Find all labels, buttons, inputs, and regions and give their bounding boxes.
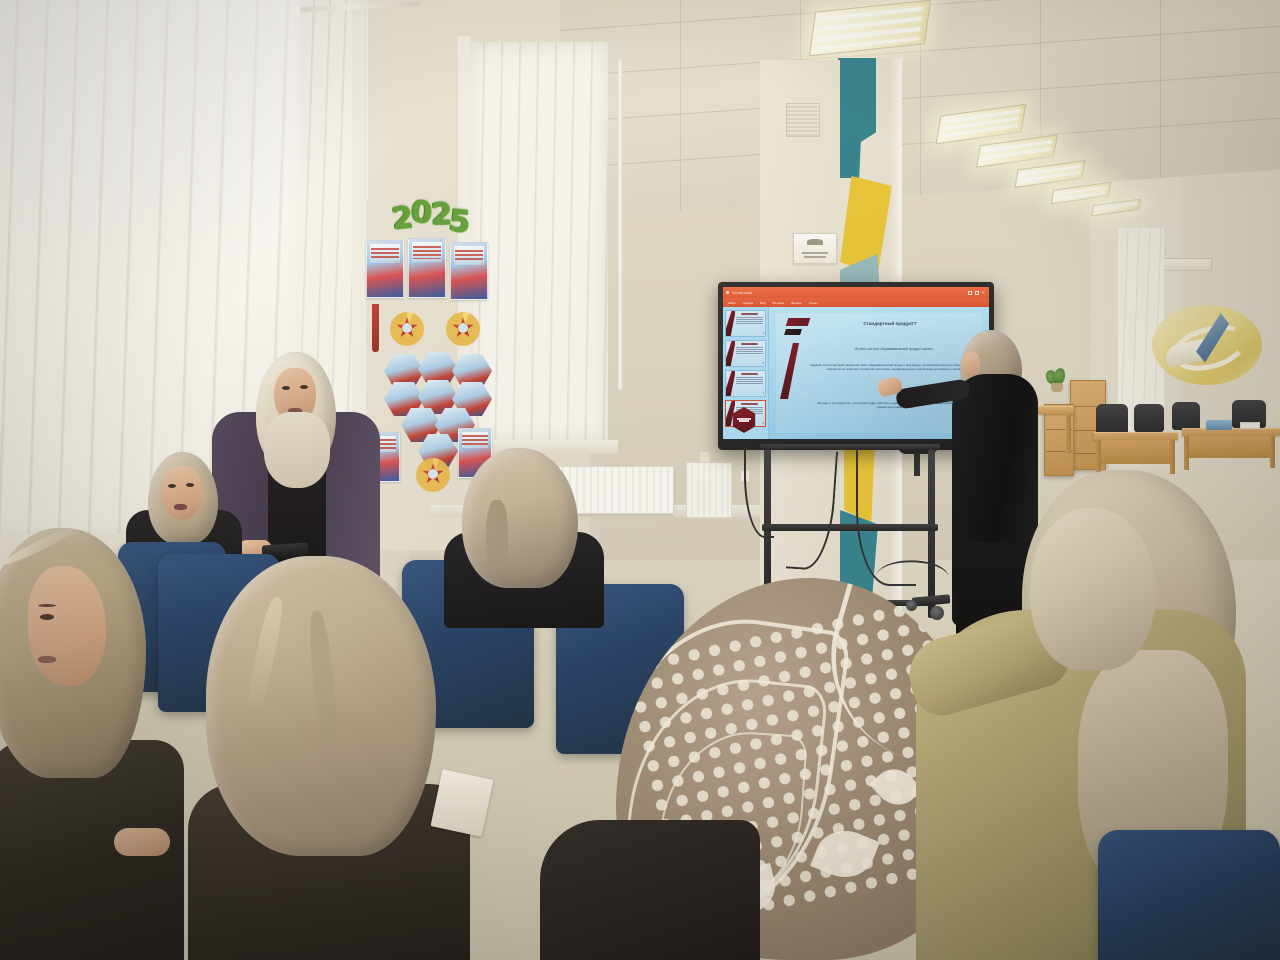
attendee-center-hijab-fold	[486, 500, 508, 576]
menu-item-format[interactable]: Формат	[791, 301, 802, 305]
thumbnail-lines	[735, 341, 765, 366]
app-titlebar: Презентация ×	[723, 287, 989, 298]
star-medal	[390, 312, 424, 346]
app-menubar[interactable]: Файл Правка Вид Вставка Формат Показ	[723, 298, 989, 307]
menu-item-file[interactable]: Файл	[728, 301, 736, 305]
wall-vent	[786, 103, 820, 137]
bulletin-board	[366, 196, 496, 482]
wall-conduit-vertical	[365, 0, 370, 200]
attendee-center	[440, 448, 606, 618]
desk-items	[1206, 420, 1232, 430]
wall-mural-quill	[1152, 305, 1262, 385]
desk-far-1	[1094, 432, 1178, 440]
chair-foreground-right[interactable]	[1098, 830, 1280, 960]
desk-leg	[1170, 440, 1175, 474]
office-chair-far	[1172, 402, 1200, 430]
office-chair-far	[1096, 404, 1128, 434]
wall-conduit-right	[618, 60, 623, 390]
slide-number: 2	[763, 362, 764, 365]
attendee-left-face	[28, 566, 106, 686]
attendee-second-row	[196, 556, 456, 960]
award-ribbon	[372, 304, 379, 352]
minimize-icon[interactable]	[968, 291, 972, 295]
slide-logo-icon	[726, 311, 735, 336]
attendee-eye-left	[168, 484, 176, 488]
board-poster	[408, 238, 446, 298]
slide-title: Стандартный продукт?	[825, 321, 955, 326]
star-medal	[446, 312, 480, 346]
slide-paragraph-2: Методы и инструменты, с которыми будет р…	[815, 401, 975, 409]
slide-number: 3	[763, 392, 764, 395]
office-chair-far	[1134, 404, 1164, 432]
maximize-icon[interactable]	[975, 291, 979, 295]
desk-leg	[1270, 436, 1275, 468]
attendee-eye-right	[186, 483, 194, 487]
attendee-mouth	[174, 504, 187, 510]
slide-logo-icon	[726, 341, 735, 366]
slide-thumbnail[interactable]: 1	[725, 310, 766, 337]
close-icon[interactable]: ×	[982, 291, 986, 295]
display-screen[interactable]: Презентация × Файл Правка Вид Вставка Фо…	[723, 287, 989, 439]
menu-item-edit[interactable]: Правка	[743, 301, 753, 305]
attendee-center-hijab	[462, 448, 578, 588]
photo-scene: 2 0 2 5	[0, 0, 1280, 960]
slide-thumbnail[interactable]: 3	[725, 370, 766, 397]
menu-item-show[interactable]: Показ	[809, 301, 817, 305]
slide-number-active: 4	[763, 422, 764, 425]
thumbnail-lines	[735, 311, 765, 336]
desk-leg	[1184, 436, 1189, 470]
slide-thumbnail-rail[interactable]: 1 2	[723, 307, 769, 439]
attendee-left-brow	[38, 604, 56, 607]
wall-sign	[793, 233, 837, 264]
app-title: Презентация	[732, 291, 752, 295]
desk-panel-1	[1098, 440, 1172, 464]
desk-panel-2	[1186, 436, 1274, 458]
attendee-back-right-hijab	[1030, 508, 1156, 670]
column-shape-teal-top	[838, 58, 876, 178]
speaker-eye-right	[300, 385, 308, 389]
attendee-left-hand	[114, 828, 170, 856]
menu-item-insert[interactable]: Вставка	[773, 301, 785, 305]
speaker-hijab-drape	[264, 412, 330, 488]
ceiling-diffuser	[1158, 258, 1212, 271]
thumbnail-lines	[735, 371, 765, 396]
desk-leg	[1066, 414, 1071, 454]
slide-thumbnail[interactable]: 2	[725, 340, 766, 367]
slide-logo-icon	[726, 371, 735, 396]
attendee-foreground-shoulder	[540, 820, 760, 960]
attendee-face	[162, 466, 202, 520]
app-icon	[726, 291, 729, 294]
desk-papers	[1240, 422, 1260, 429]
speaker-eye-left	[282, 386, 290, 390]
window-controls[interactable]: ×	[968, 291, 986, 295]
menu-item-view[interactable]: Вид	[760, 301, 766, 305]
attendee-left-front	[0, 528, 174, 958]
board-poster	[450, 242, 488, 300]
slide-emblem-icon	[775, 315, 811, 399]
attendee-left-mouth	[38, 656, 56, 663]
attendee-left-eye	[40, 614, 54, 620]
slide-number: 1	[763, 332, 764, 335]
board-poster	[366, 240, 404, 298]
attendee-back-right	[1030, 508, 1160, 678]
radiator-corner	[686, 462, 732, 518]
